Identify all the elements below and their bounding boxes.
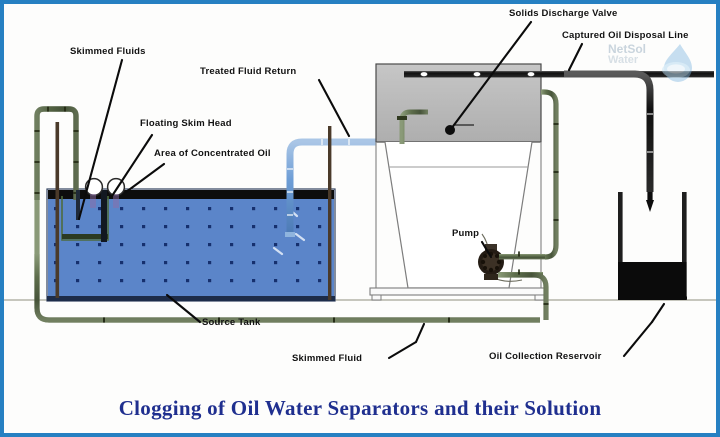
figure-title: Clogging of Oil Water Separators and the… <box>4 396 716 421</box>
oil-collection-reservoir <box>618 192 687 300</box>
watermark-line2: Water <box>608 55 646 66</box>
leader-treated-return <box>319 80 349 136</box>
label-source-tank: Source Tank <box>202 317 261 328</box>
netsol-water-watermark: NetSol Water <box>608 38 694 96</box>
leader-skimmed-fluid <box>389 342 416 358</box>
separator-base <box>370 288 547 300</box>
standpipe <box>56 122 60 298</box>
water-droplet-icon <box>650 40 696 86</box>
diagram-page: Skimmed Fluids Floating Skim Head Area o… <box>0 0 720 437</box>
label-pump: Pump <box>452 228 479 239</box>
label-treated-fluid-return: Treated Fluid Return <box>200 66 296 77</box>
label-floating-skim-head: Floating Skim Head <box>140 118 232 129</box>
leader-captured-oil <box>569 44 582 70</box>
return-standpipe <box>328 126 331 300</box>
label-area-of-concentrated-oil: Area of Concentrated Oil <box>154 148 271 159</box>
label-skimmed-fluids: Skimmed Fluids <box>70 46 146 57</box>
label-skimmed-fluid: Skimmed Fluid <box>292 353 362 364</box>
solids-hopper <box>376 142 541 288</box>
leader-reservoir <box>624 322 652 356</box>
diagram-canvas: Skimmed Fluids Floating Skim Head Area o… <box>4 4 716 433</box>
watermark-text: NetSol Water <box>608 44 646 66</box>
leader-area-oil <box>126 164 164 192</box>
label-solids-discharge-valve: Solids Discharge Valve <box>509 8 617 19</box>
label-oil-collection-reservoir: Oil Collection Reservoir <box>489 351 602 362</box>
